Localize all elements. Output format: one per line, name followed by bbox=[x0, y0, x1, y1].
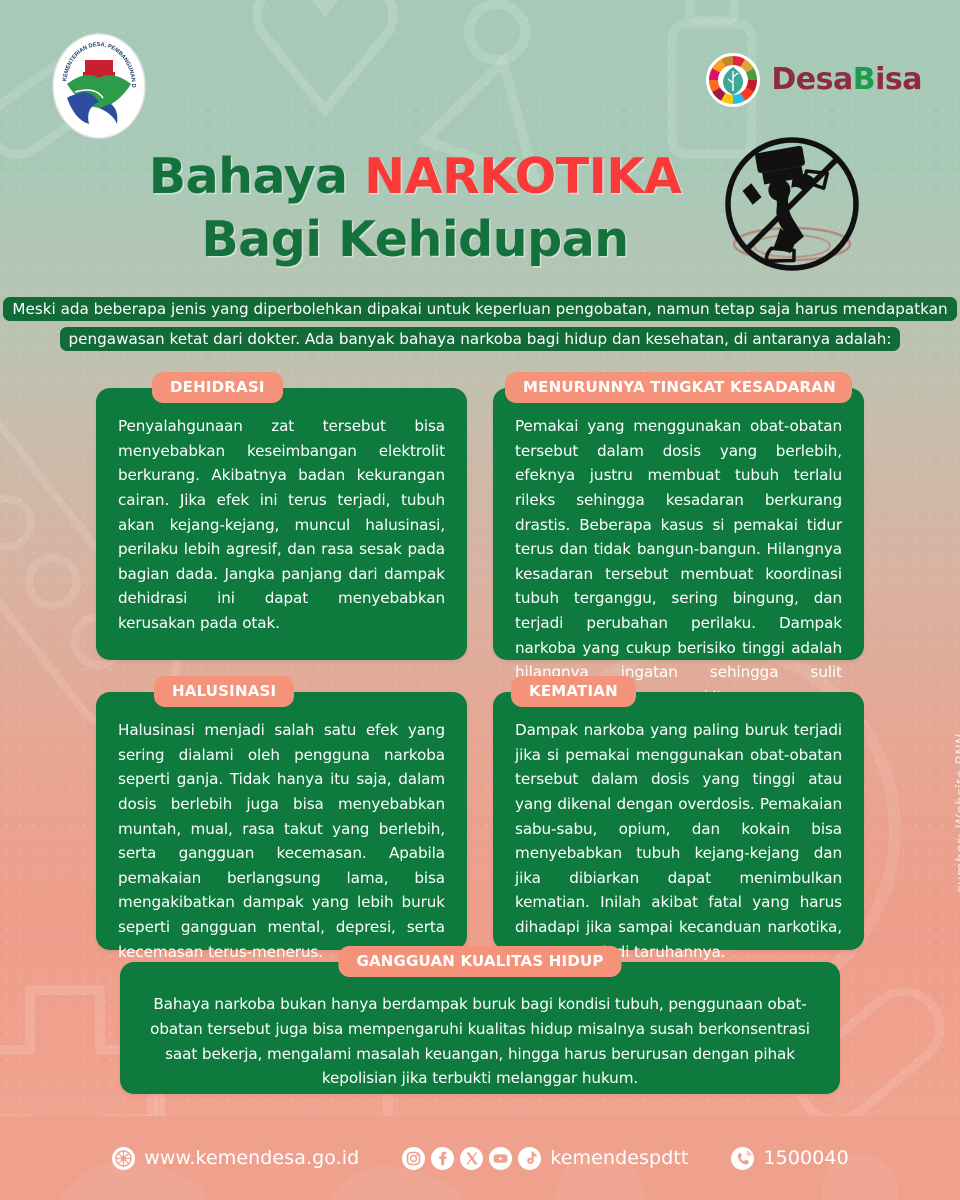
title-highlight-text: NARKOTIKA bbox=[364, 148, 681, 205]
card-badge-kesadaran: MENURUNNYA TINGKAT KESADARAN bbox=[505, 372, 852, 403]
intro-text: Meski ada beberapa jenis yang diperboleh… bbox=[3, 297, 956, 351]
facebook-icon[interactable] bbox=[430, 1146, 455, 1171]
sdgs-wheel-icon bbox=[705, 52, 761, 108]
footer-phone-text: 1500040 bbox=[763, 1147, 848, 1169]
card-row-1: DEHIDRASI Penyalahgunaan zat tersebut bi… bbox=[96, 388, 864, 660]
card-gangguan-kualitas-hidup-wrapper: GANGGUAN KUALITAS HIDUP Bahaya narkoba b… bbox=[120, 962, 840, 1094]
globe-icon bbox=[111, 1146, 136, 1171]
footer-phone-group[interactable]: 1500040 bbox=[730, 1146, 848, 1171]
footer-social-icons[interactable] bbox=[401, 1146, 542, 1171]
footer-bar: www.kemendesa.go.id bbox=[0, 1116, 960, 1200]
card-kematian: KEMATIAN Dampak narkoba yang paling buru… bbox=[493, 692, 864, 950]
intro-banner: Meski ada beberapa jenis yang diperboleh… bbox=[0, 294, 960, 355]
danger-cards-grid: DEHIDRASI Penyalahgunaan zat tersebut bi… bbox=[96, 388, 864, 950]
card-gangguan-kualitas-hidup: GANGGUAN KUALITAS HIDUP Bahaya narkoba b… bbox=[120, 962, 840, 1094]
title-line-2: Bagi Kehidupan bbox=[0, 209, 830, 272]
card-badge-gangguan-kualitas-hidup: GANGGUAN KUALITAS HIDUP bbox=[338, 946, 621, 977]
desabisa-desa-text: Desa bbox=[771, 62, 852, 97]
footer-social-handle-text: kemendespdtt bbox=[550, 1147, 688, 1169]
card-body-halusinasi: Halusinasi menjadi salah satu efek yang … bbox=[96, 692, 467, 986]
footer-social-group[interactable]: kemendespdtt bbox=[401, 1146, 688, 1171]
footer-website-group[interactable]: www.kemendesa.go.id bbox=[111, 1146, 359, 1171]
desabisa-isa-text: isa bbox=[875, 62, 922, 97]
desabisa-logo: DesaBisa bbox=[705, 52, 922, 108]
card-halusinasi: HALUSINASI Halusinasi menjadi salah satu… bbox=[96, 692, 467, 950]
card-menurunnya-tingkat-kesadaran: MENURUNNYA TINGKAT KESADARAN Pemakai yan… bbox=[493, 388, 864, 660]
card-row-2: HALUSINASI Halusinasi menjadi salah satu… bbox=[96, 692, 864, 950]
card-body-kematian: Dampak narkoba yang paling buruk terjadi… bbox=[493, 692, 864, 986]
source-note: sumber: Website BNN bbox=[954, 706, 960, 921]
desabisa-wordmark: DesaBisa bbox=[771, 65, 922, 95]
kemendesa-logo: KEMENTERIAN DESA, PEMBANGUNAN DAERAH TER… bbox=[45, 32, 153, 140]
desabisa-b-text: B bbox=[853, 62, 875, 97]
card-body-gangguan-kualitas-hidup: Bahaya narkoba bukan hanya berdampak bur… bbox=[120, 962, 840, 1109]
card-body-dehidrasi: Penyalahgunaan zat tersebut bisa menyeba… bbox=[96, 388, 467, 658]
no-drugs-syringe-icon bbox=[712, 126, 872, 286]
title-line-1: Bahaya NARKOTIKA bbox=[0, 146, 830, 209]
footer-website-text: www.kemendesa.go.id bbox=[144, 1147, 359, 1169]
youtube-icon[interactable] bbox=[488, 1146, 513, 1171]
card-badge-dehidrasi: DEHIDRASI bbox=[152, 372, 283, 403]
card-dehidrasi: DEHIDRASI Penyalahgunaan zat tersebut bi… bbox=[96, 388, 467, 660]
phone-icon bbox=[730, 1146, 755, 1171]
title-plain-text: Bahaya bbox=[149, 148, 364, 205]
tiktok-icon[interactable] bbox=[517, 1146, 542, 1171]
instagram-icon[interactable] bbox=[401, 1146, 426, 1171]
card-badge-kematian: KEMATIAN bbox=[511, 676, 636, 707]
decorative-heart-outline bbox=[240, 0, 410, 130]
card-badge-halusinasi: HALUSINASI bbox=[154, 676, 294, 707]
x-twitter-icon[interactable] bbox=[459, 1146, 484, 1171]
infographic-poster: KEMENTERIAN DESA, PEMBANGUNAN DAERAH TER… bbox=[0, 0, 960, 1200]
